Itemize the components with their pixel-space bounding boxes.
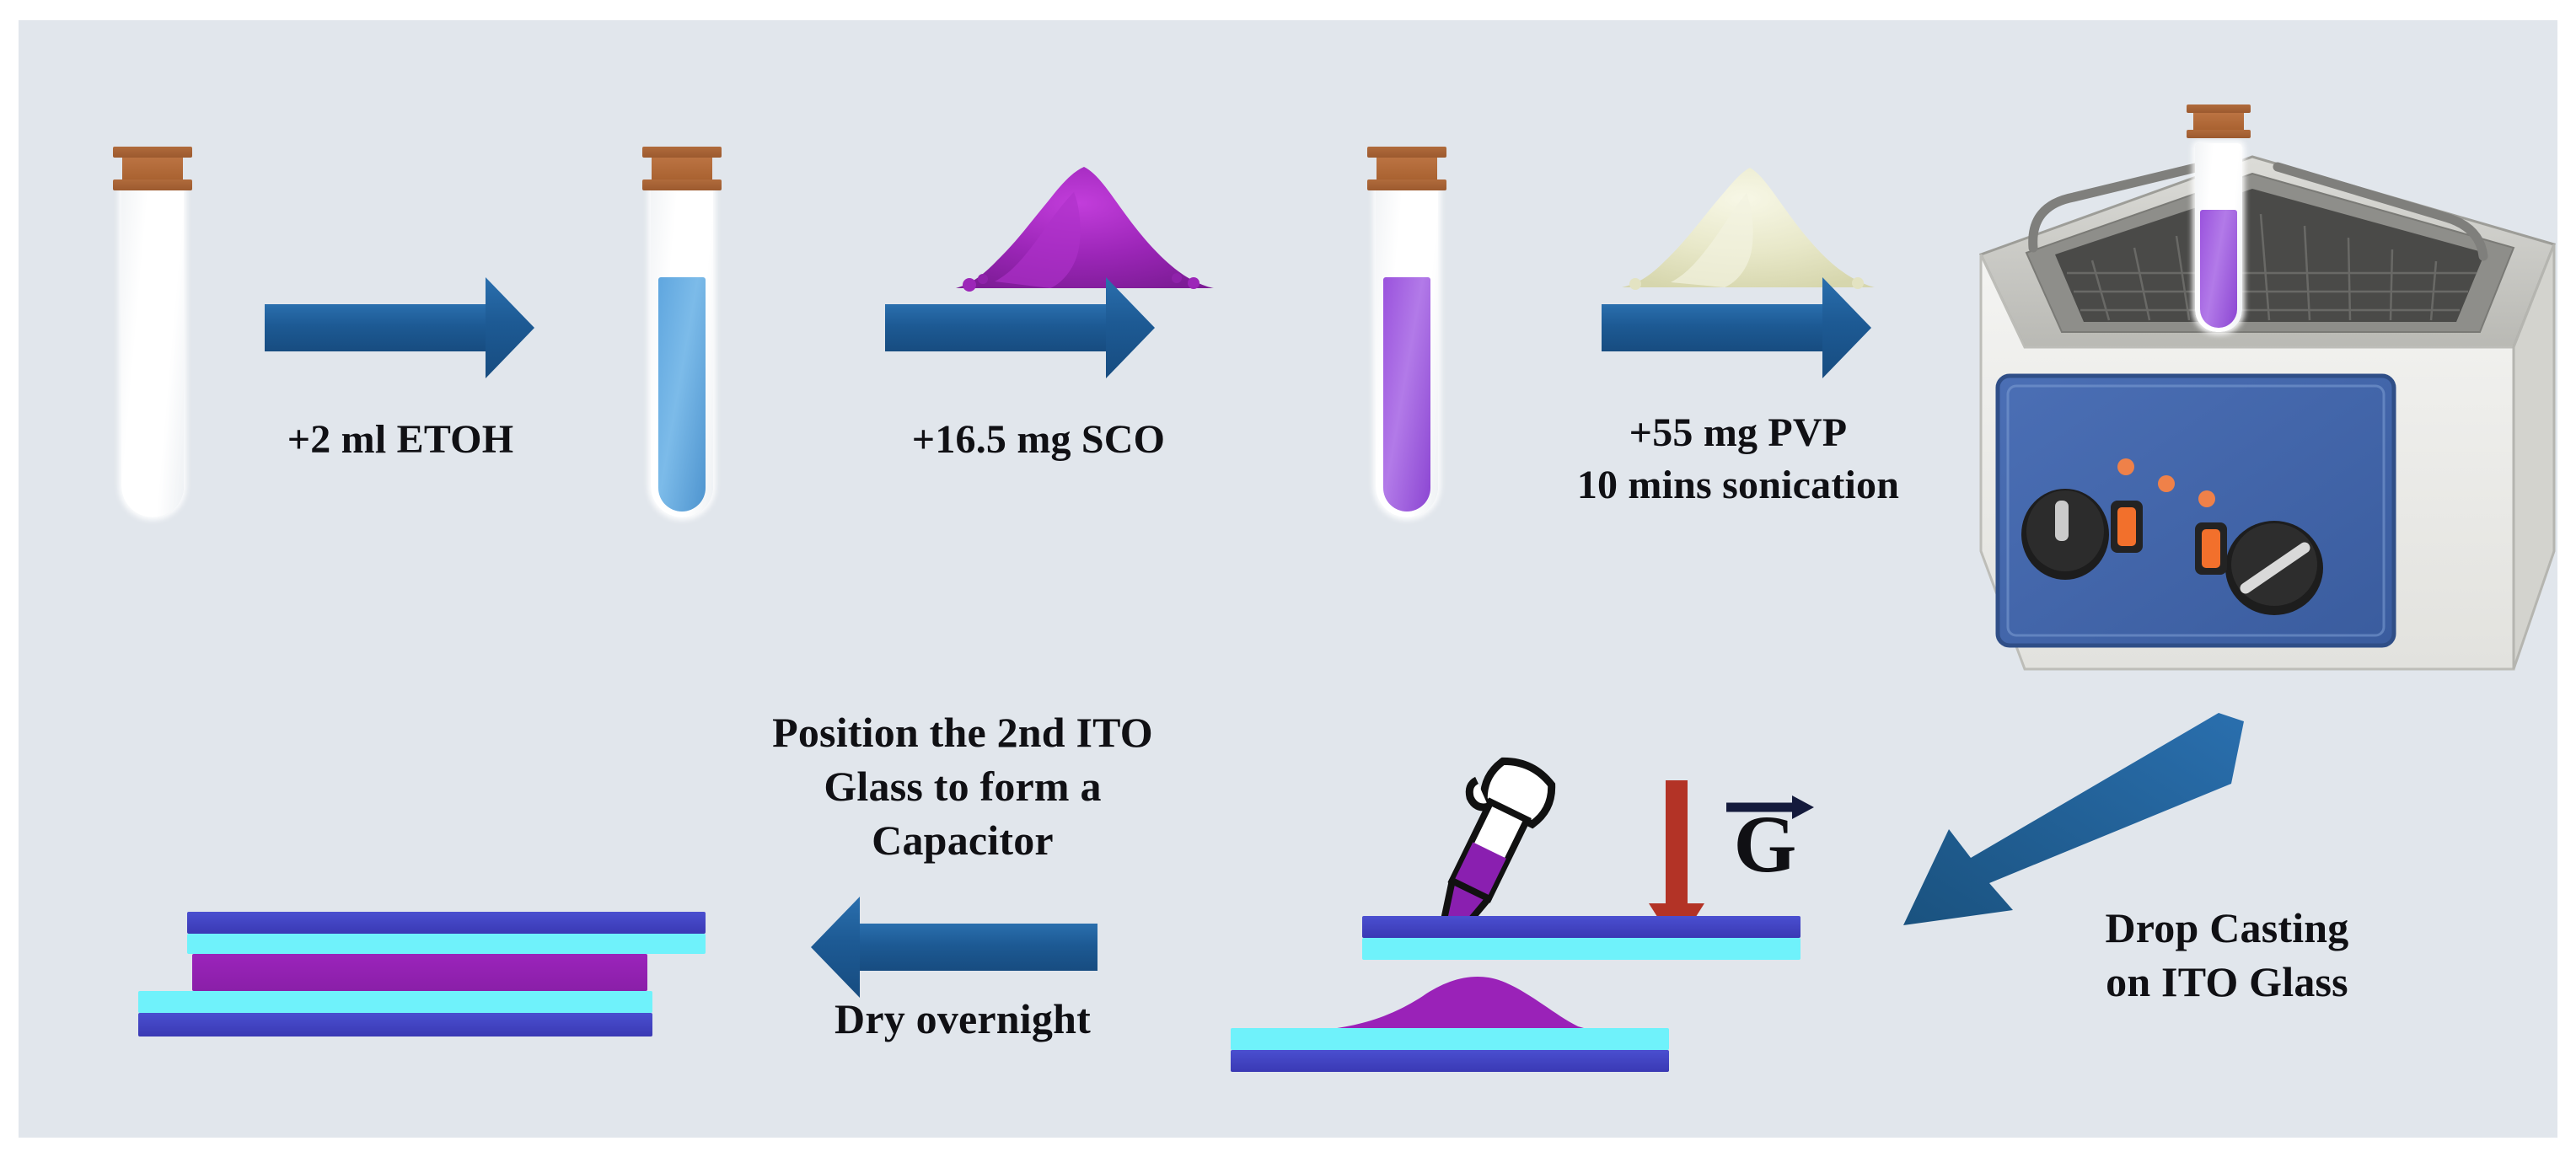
label-step5-line1: Drop Casting <box>2008 903 2446 953</box>
label-step1: +2 ml ETOH <box>236 416 565 464</box>
label-step8-line2: Glass to form a <box>659 762 1266 812</box>
test-tube-glass <box>121 185 184 517</box>
sco-solution-liquid <box>2200 210 2237 328</box>
gravity-symbol-letter: G <box>1715 804 1816 885</box>
ultrasonic-sonicator-bath <box>1974 79 2557 686</box>
ethanol-liquid <box>658 277 706 512</box>
process-arrow-4 <box>811 897 1097 998</box>
capacitor-top-ito-substrate <box>187 934 706 954</box>
process-arrow-3 <box>1602 277 1871 378</box>
empty-test-tube <box>121 147 184 517</box>
cork-stopper <box>113 147 192 190</box>
cork-stopper <box>2187 104 2251 138</box>
capacitor-sco-pvp-dielectric <box>192 954 647 991</box>
solution-test-tube <box>1376 147 1438 517</box>
ito-glass-bottom-conductive-layer <box>1231 1050 1669 1072</box>
label-step5-line2: on ITO Glass <box>2008 957 2446 1007</box>
label-step7: Dry overnight <box>684 994 1241 1044</box>
label-step8-line3: Capacitor <box>659 816 1266 865</box>
ito-glass-top-substrate <box>1362 938 1801 960</box>
label-step3-line2: 10 mins sonication <box>1527 462 1949 510</box>
label-step3-line1: +55 mg PVP <box>1536 410 1940 458</box>
sco-solution-liquid <box>1383 277 1430 512</box>
process-diagram-figure: +2 ml ETOH +16. <box>19 20 2557 1138</box>
capacitor-bottom-ito-substrate <box>138 991 652 1013</box>
sonicating-test-tube <box>2195 104 2242 332</box>
ethanol-test-tube <box>651 147 713 517</box>
label-step2: +16.5 mg SCO <box>861 416 1216 464</box>
process-arrow-1 <box>265 277 534 378</box>
pipette-dropper <box>1386 747 1571 999</box>
capacitor-top-ito-conductive <box>187 912 706 934</box>
capacitor-bottom-ito-conductive <box>138 1013 652 1036</box>
process-arrow-2 <box>885 277 1155 378</box>
label-step8-line1: Position the 2nd ITO <box>659 708 1266 758</box>
cork-stopper <box>1367 147 1446 190</box>
ito-glass-top-conductive-layer <box>1362 916 1801 938</box>
cork-stopper <box>642 147 722 190</box>
cast-sco-droplet <box>1323 966 1661 1033</box>
ito-glass-bottom-substrate <box>1231 1028 1669 1050</box>
